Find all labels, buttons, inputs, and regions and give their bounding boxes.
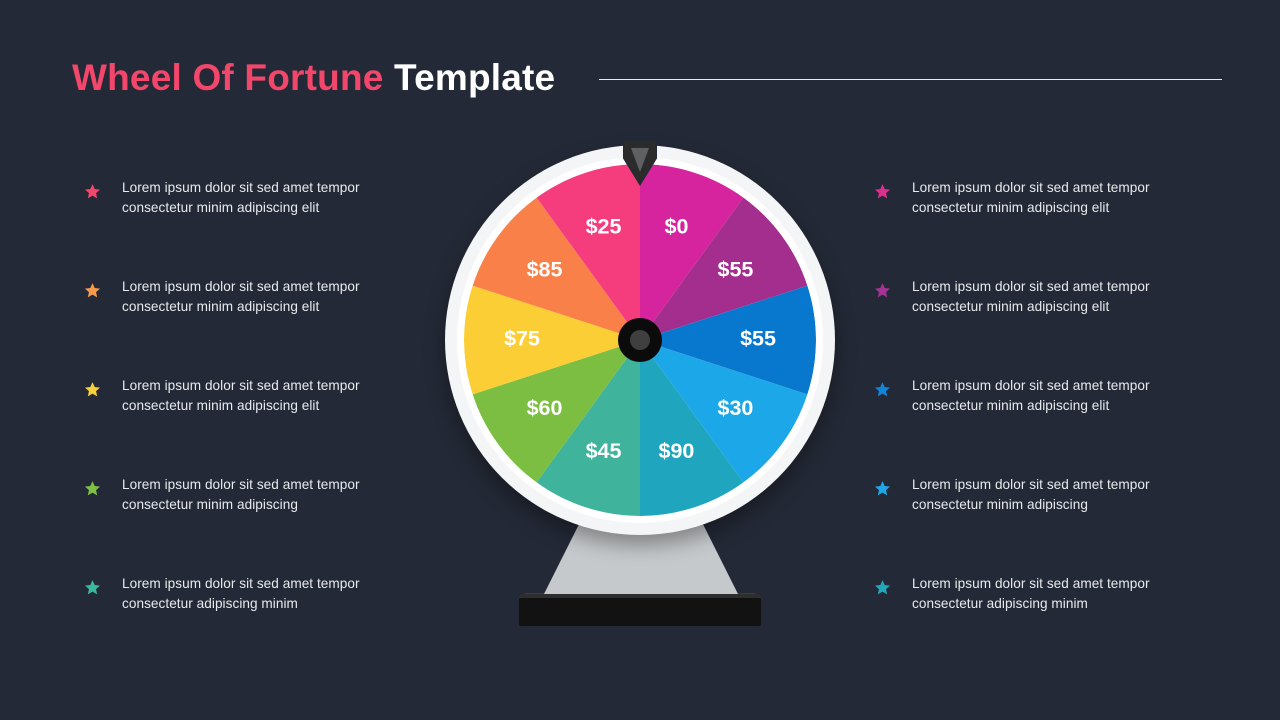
star-icon (874, 282, 891, 299)
star-icon (84, 183, 101, 200)
wheel-slice-label: $90 (659, 439, 695, 463)
bullet-line-2: consectetur minim adipiscing elit (912, 299, 1109, 314)
bullet-item: Lorem ipsum dolor sit sed amet temporcon… (84, 277, 414, 376)
bullet-item: Lorem ipsum dolor sit sed amet temporcon… (84, 574, 414, 673)
bullet-line-1: Lorem ipsum dolor sit sed amet tempor (912, 576, 1150, 591)
bullet-text: Lorem ipsum dolor sit sed amet temporcon… (122, 574, 412, 614)
wheel-slice-label: $85 (527, 257, 563, 281)
star-icon (874, 480, 891, 497)
bullet-column-left: Lorem ipsum dolor sit sed amet temporcon… (84, 178, 414, 673)
bullet-text: Lorem ipsum dolor sit sed amet temporcon… (122, 277, 412, 317)
bullet-line-2: consectetur minim adipiscing elit (122, 299, 319, 314)
page-title-accent: Wheel Of Fortune (72, 57, 384, 98)
bullet-line-1: Lorem ipsum dolor sit sed amet tempor (122, 477, 360, 492)
wheel-slice-label: $0 (664, 214, 688, 238)
star-icon (84, 381, 101, 398)
bullet-text: Lorem ipsum dolor sit sed amet temporcon… (912, 574, 1202, 614)
bullet-line-1: Lorem ipsum dolor sit sed amet tempor (912, 279, 1150, 294)
wheel-slice-label: $30 (718, 396, 754, 420)
bullet-line-2: consectetur minim adipiscing elit (912, 398, 1109, 413)
bullet-item: Lorem ipsum dolor sit sed amet temporcon… (84, 475, 414, 574)
bullet-line-1: Lorem ipsum dolor sit sed amet tempor (912, 180, 1150, 195)
star-icon (84, 480, 101, 497)
star-icon (874, 579, 891, 596)
header-divider-rule (599, 79, 1222, 80)
slide-header: Wheel Of Fortune Template (72, 52, 1222, 104)
page-title-plain: Template (394, 57, 555, 98)
bullet-line-1: Lorem ipsum dolor sit sed amet tempor (122, 279, 360, 294)
bullet-line-1: Lorem ipsum dolor sit sed amet tempor (122, 180, 360, 195)
bullet-line-2: consectetur adipiscing minim (912, 596, 1088, 611)
fortune-wheel[interactable]: $0$55$55$30$90$45$60$75$85$25 (445, 140, 835, 640)
bullet-line-2: consectetur minim adipiscing elit (122, 200, 319, 215)
wheel-base-sheen (519, 594, 761, 598)
bullet-item: Lorem ipsum dolor sit sed amet temporcon… (84, 178, 414, 277)
bullet-line-2: consectetur minim adipiscing elit (912, 200, 1109, 215)
bullet-text: Lorem ipsum dolor sit sed amet temporcon… (912, 178, 1202, 218)
bullet-line-1: Lorem ipsum dolor sit sed amet tempor (912, 378, 1150, 393)
bullet-text: Lorem ipsum dolor sit sed amet temporcon… (122, 475, 412, 515)
bullet-item: Lorem ipsum dolor sit sed amet temporcon… (874, 178, 1204, 277)
wheel-slice-label: $45 (586, 439, 622, 463)
star-icon (84, 282, 101, 299)
wheel-slice-label: $55 (740, 327, 776, 351)
star-icon (874, 183, 891, 200)
bullet-text: Lorem ipsum dolor sit sed amet temporcon… (912, 475, 1202, 515)
wheel-hub-core (630, 330, 650, 350)
bullet-item: Lorem ipsum dolor sit sed amet temporcon… (84, 376, 414, 475)
wheel-base-block (519, 594, 761, 626)
bullet-line-1: Lorem ipsum dolor sit sed amet tempor (122, 576, 360, 591)
star-icon (84, 579, 101, 596)
bullet-text: Lorem ipsum dolor sit sed amet temporcon… (912, 277, 1202, 317)
bullet-column-right: Lorem ipsum dolor sit sed amet temporcon… (874, 178, 1204, 673)
bullet-line-2: consectetur minim adipiscing elit (122, 398, 319, 413)
wheel-slice-label: $60 (527, 396, 563, 420)
bullet-item: Lorem ipsum dolor sit sed amet temporcon… (874, 277, 1204, 376)
bullet-text: Lorem ipsum dolor sit sed amet temporcon… (912, 376, 1202, 416)
wheel-slice-label: $75 (504, 327, 540, 351)
wheel-slice-label: $55 (718, 257, 754, 281)
bullet-text: Lorem ipsum dolor sit sed amet temporcon… (122, 376, 412, 416)
bullet-text: Lorem ipsum dolor sit sed amet temporcon… (122, 178, 412, 218)
wheel-slice-label: $25 (586, 214, 622, 238)
bullet-line-2: consectetur adipiscing minim (122, 596, 298, 611)
bullet-line-2: consectetur minim adipiscing (912, 497, 1088, 512)
bullet-item: Lorem ipsum dolor sit sed amet temporcon… (874, 376, 1204, 475)
star-icon (874, 381, 891, 398)
bullet-line-1: Lorem ipsum dolor sit sed amet tempor (122, 378, 360, 393)
bullet-item: Lorem ipsum dolor sit sed amet temporcon… (874, 574, 1204, 673)
slide-canvas: Wheel Of Fortune Template Lorem ipsum do… (0, 0, 1280, 720)
bullet-item: Lorem ipsum dolor sit sed amet temporcon… (874, 475, 1204, 574)
bullet-line-2: consectetur minim adipiscing (122, 497, 298, 512)
page-title: Wheel Of Fortune Template (72, 57, 555, 99)
bullet-line-1: Lorem ipsum dolor sit sed amet tempor (912, 477, 1150, 492)
